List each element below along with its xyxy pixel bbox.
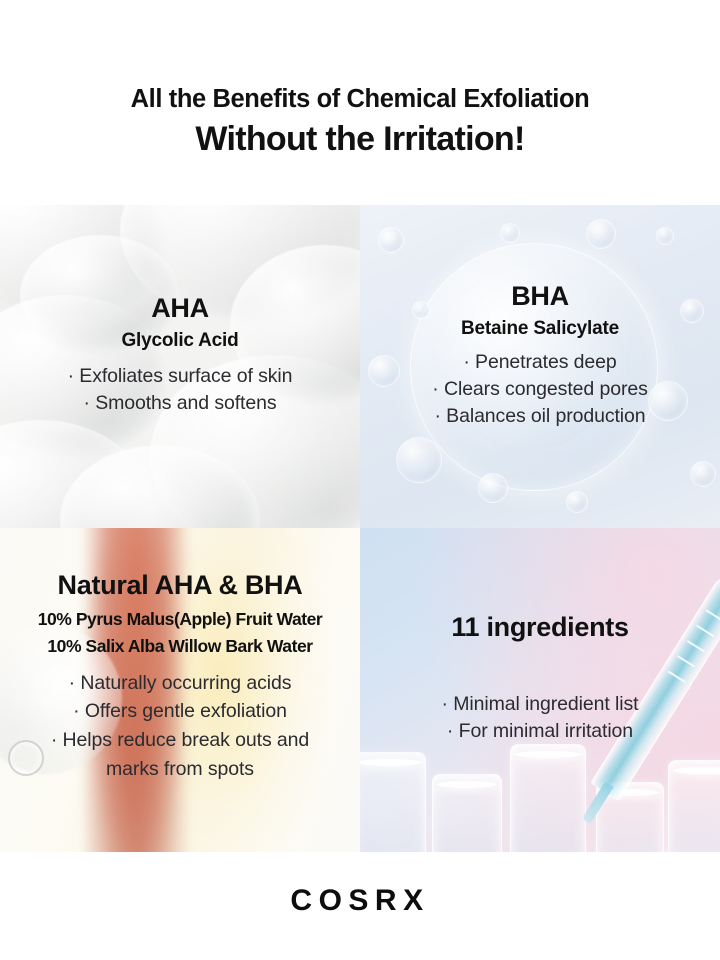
aha-title: AHA bbox=[6, 293, 354, 324]
natural-title: Natural AHA & BHA bbox=[6, 570, 354, 601]
natural-subtitle-willow: 10% Salix Alba Willow Bark Water bbox=[6, 635, 354, 658]
list-item: marks from spots bbox=[6, 755, 354, 784]
aha-subtitle: Glycolic Acid bbox=[6, 329, 354, 354]
cosrx-logo: COSRX bbox=[0, 884, 720, 918]
infographic-page: All the Benefits of Chemical Exfoliation… bbox=[0, 0, 720, 960]
bubble bbox=[378, 227, 404, 253]
panel-natural-aha-bha: Natural AHA & BHA 10% Pyrus Malus(Apple)… bbox=[0, 528, 360, 852]
list-item: · For minimal irritation bbox=[366, 718, 714, 745]
list-item: · Offers gentle exfoliation bbox=[6, 697, 354, 726]
glass-vial bbox=[668, 760, 720, 852]
bha-content: BHA Betaine Salicylate · Penetrates deep… bbox=[360, 281, 720, 429]
natural-subtitle-apple: 10% Pyrus Malus(Apple) Fruit Water bbox=[6, 608, 354, 631]
headline-line-2: Without the Irritation! bbox=[0, 119, 720, 160]
bubble bbox=[478, 473, 508, 503]
headline-block: All the Benefits of Chemical Exfoliation… bbox=[0, 84, 720, 161]
ingredients-benefit-list: · Minimal ingredient list · For minimal … bbox=[366, 691, 714, 745]
glass-vial bbox=[510, 744, 586, 852]
natural-benefit-list: · Naturally occurring acids · Offers gen… bbox=[6, 669, 354, 784]
list-item: · Clears congested pores bbox=[366, 376, 714, 403]
bubble bbox=[500, 223, 520, 243]
bha-title: BHA bbox=[366, 281, 714, 312]
bubble bbox=[566, 491, 588, 513]
list-item: · Minimal ingredient list bbox=[366, 691, 714, 718]
bubble bbox=[656, 227, 674, 245]
aha-content: AHA Glycolic Acid · Exfoliates surface o… bbox=[0, 293, 360, 417]
natural-content: Natural AHA & BHA 10% Pyrus Malus(Apple)… bbox=[0, 570, 360, 784]
list-item: · Helps reduce break outs and bbox=[6, 726, 354, 755]
ingredients-content: 11 ingredients · Minimal ingredient list… bbox=[360, 612, 720, 745]
list-item: · Exfoliates surface of skin bbox=[6, 363, 354, 390]
panel-ingredients: 11 ingredients · Minimal ingredient list… bbox=[360, 528, 720, 852]
list-item: · Balances oil production bbox=[366, 403, 714, 430]
list-item: · Smooths and softens bbox=[6, 390, 354, 417]
bha-benefit-list: · Penetrates deep · Clears congested por… bbox=[366, 349, 714, 430]
headline-line-1: All the Benefits of Chemical Exfoliation bbox=[0, 84, 720, 115]
ingredients-title: 11 ingredients bbox=[366, 612, 714, 643]
bha-subtitle: Betaine Salicylate bbox=[366, 317, 714, 342]
benefits-grid: AHA Glycolic Acid · Exfoliates surface o… bbox=[0, 205, 720, 852]
glass-vial bbox=[360, 752, 426, 852]
list-item: · Penetrates deep bbox=[366, 349, 714, 376]
glass-vial bbox=[432, 774, 502, 852]
panel-bha: BHA Betaine Salicylate · Penetrates deep… bbox=[360, 205, 720, 528]
bubble bbox=[690, 461, 716, 487]
aha-benefit-list: · Exfoliates surface of skin · Smooths a… bbox=[6, 363, 354, 417]
bubble bbox=[396, 437, 442, 483]
list-item: · Naturally occurring acids bbox=[6, 669, 354, 698]
bubble bbox=[586, 219, 616, 249]
panel-aha: AHA Glycolic Acid · Exfoliates surface o… bbox=[0, 205, 360, 528]
